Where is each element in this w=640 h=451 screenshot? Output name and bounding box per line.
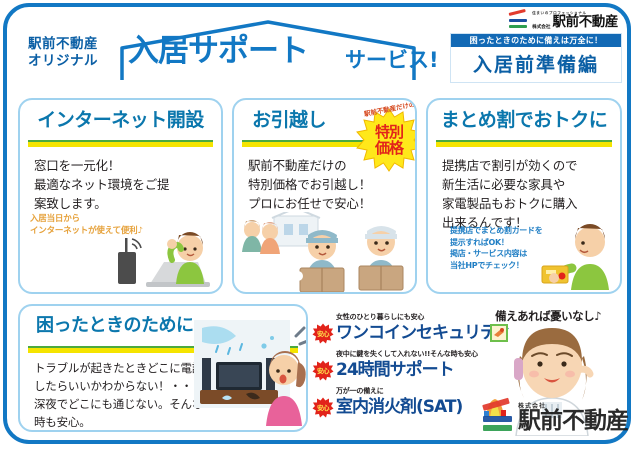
anshin-badge-icon: 安心 [312,397,334,418]
panel-bundle-heading: まとめ割でおトクに [428,100,620,140]
service-item-24h[interactable]: 安心 夜中に鍵を失くして入れない!!そんな時も安心 24時間サポート [312,350,512,387]
service-extinguisher-name: 室内消火剤(SAT) [336,395,462,419]
panel-bundle-caption: 提携店でまとめ割カードを 提示すればOK！ 掲店・サービス内容は 当社HPでチェ… [450,225,542,271]
logo-kk-text: 株式会社 [532,25,550,30]
water-leak-living-room-illustration [188,314,308,430]
special-price-badge: 駅前不動産だけの! 特別 価格 [352,104,417,174]
service-security-name: ワンコインセキュリティ [336,321,511,345]
panel-moving[interactable]: お引越し 駅前不動産だけの 特別価格でお引越し！ プロにお任せで安心！ 駅前不動… [232,98,417,294]
logo-company-name: 駅前不動産 [553,16,619,30]
panel-internet[interactable]: インターネット開設 窓口を一元化！ 最適なネット環境をご提 案致します。 入居当… [18,98,223,294]
logo-mark-icon [483,405,513,433]
panel-divider [28,140,213,147]
person-holding-discount-card-illustration [538,218,622,292]
person-laptop-wifi-router-illustration [106,226,222,292]
banner-title: 入居前準備編 [451,47,621,83]
anshin-badge-icon: 安心 [312,323,334,344]
service-24h-name: 24時間サポート [336,358,454,382]
header-sub-title: サービス! [345,44,439,74]
anshin-badge-text: 安心 [312,328,334,338]
anshin-badge-icon: 安心 [312,360,334,381]
panel-divider [436,140,612,147]
company-logo-watermark: 株式会社 駅前不動産 [483,404,628,433]
flyer-canvas: 駅前不動産 オリジナル 入居サポート サービス! 住まいのプロフェッショナル 株… [0,0,640,451]
anshin-badge-text: 安心 [312,365,334,375]
panel-trouble-support[interactable]: 困ったときのために トラブルが起きたときどこに電話 したらいいかわからない！・・… [18,304,308,432]
banner-caption: 困ったときのために備えは万全に！ [451,34,621,47]
logo-mark-icon [509,13,528,30]
company-logo-top: 住まいのプロフェッショナル 株式会社 駅前不動産 [509,8,618,34]
anshin-badge-text: 安心 [312,402,334,412]
badge-title: 特別 価格 [352,124,417,156]
logo-company-name: 駅前不動産 [518,410,628,433]
panel-bundle-discount[interactable]: まとめ割でおトクに 提携店で割引が効くので 新生活に必要な家具や 家電製品もおト… [426,98,622,294]
panel-internet-heading: インターネット開設 [20,100,221,140]
header-main-title: 入居サポート [128,34,358,68]
panel-internet-body: 窓口を一元化！ 最適なネット環境をご提 案致します。 [20,147,221,213]
preparation-banner: 困ったときのために備えは万全に！ 入居前準備編 [450,33,622,83]
movers-carrying-boxes-illustration [238,212,416,292]
